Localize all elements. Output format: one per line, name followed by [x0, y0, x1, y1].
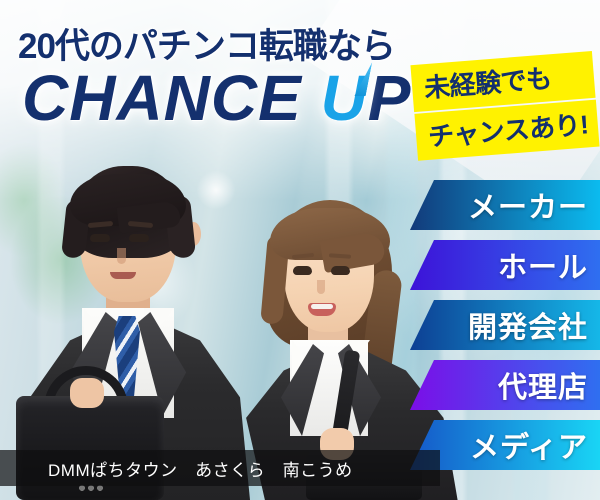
category-bar-maker[interactable]: メーカー	[410, 180, 600, 230]
man-hand	[70, 378, 104, 408]
category-bar-developer[interactable]: 開発会社	[410, 300, 600, 350]
man-mouth	[110, 272, 136, 279]
woman-mouth	[308, 303, 336, 316]
woman-nose	[317, 280, 325, 294]
logo-p-letter: P	[368, 62, 412, 134]
credit-strip: DMMぱちタウン あさくら 南こうめ	[0, 450, 440, 486]
woman-eye-left	[293, 266, 312, 275]
man-eye-left	[90, 234, 110, 242]
man-hair-fringe	[70, 174, 186, 226]
woman-eye-right	[331, 266, 350, 275]
logo-u-letter: U	[321, 66, 368, 130]
woman-hair-fringe	[270, 208, 390, 260]
no-experience-badge: 未経験でも チャンスあり!	[412, 58, 594, 154]
category-label: ホール	[498, 244, 588, 286]
category-label: メーカー	[468, 184, 588, 226]
category-label: 開発会社	[468, 304, 588, 346]
category-bar-agency[interactable]: 代理店	[410, 360, 600, 410]
category-label: 代理店	[498, 364, 588, 406]
category-label: メディア	[470, 424, 588, 466]
logo-chance-word: CHANCE	[22, 62, 302, 134]
man-nose	[117, 248, 126, 264]
credit-text: DMMぱちタウン あさくら 南こうめ	[0, 456, 353, 481]
category-bar-hall[interactable]: ホール	[410, 240, 600, 290]
chance-up-logo: CHANCE UP	[22, 66, 411, 130]
pachinko-recruitment-banner: 20代のパチンコ転職なら CHANCE UP 未経験でも チャンスあり! メーカ…	[0, 0, 600, 500]
category-bar-list: メーカー ホール 開発会社 代理店 メディア	[410, 180, 600, 480]
logo-u-glyph: U	[321, 62, 368, 134]
man-eye-right	[129, 234, 149, 242]
people-photo-group	[0, 140, 470, 500]
businessman-figure	[10, 160, 260, 500]
